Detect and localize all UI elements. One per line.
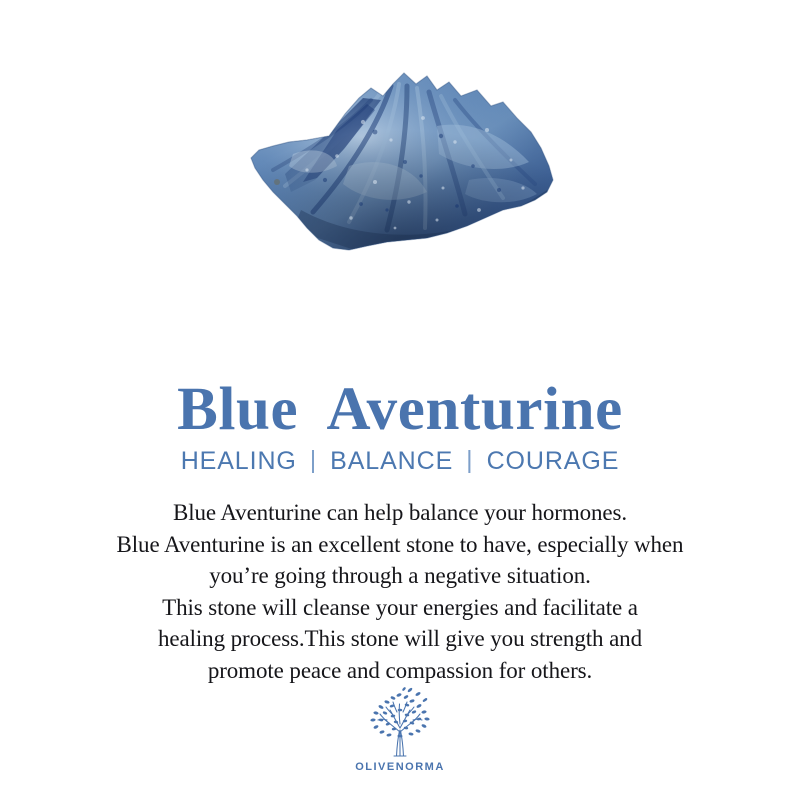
brand-logo: OLIVENORMA	[0, 686, 800, 774]
blue-aventurine-stone-image	[241, 70, 559, 256]
keyword-separator: |	[453, 445, 486, 475]
keyword-list: HEALING|BALANCE|COURAGE	[0, 446, 800, 476]
description-line: you’re going through a negative situatio…	[28, 560, 772, 592]
description-text: Blue Aventurine can help balance your ho…	[28, 497, 772, 686]
description-line: healing process.This stone will give you…	[28, 623, 772, 655]
stone-image-container	[0, 58, 800, 268]
blue-aventurine-info-card: Blue Aventurine HEALING|BALANCE|COURAGE …	[0, 0, 800, 800]
description-line: promote peace and compassion for others.	[28, 655, 772, 687]
brand-wordmark: OLIVENORMA	[355, 761, 445, 774]
keyword-healing: HEALING	[181, 446, 297, 476]
keyword-courage: COURAGE	[487, 446, 620, 476]
description-line: Blue Aventurine is an excellent stone to…	[28, 529, 772, 561]
keyword-balance: BALANCE	[330, 446, 453, 476]
description-line: Blue Aventurine can help balance your ho…	[28, 497, 772, 529]
description-line: This stone will cleanse your energies an…	[28, 592, 772, 624]
page-title: Blue Aventurine	[0, 377, 800, 443]
olive-tree-icon	[363, 686, 437, 758]
keyword-separator: |	[297, 445, 330, 475]
